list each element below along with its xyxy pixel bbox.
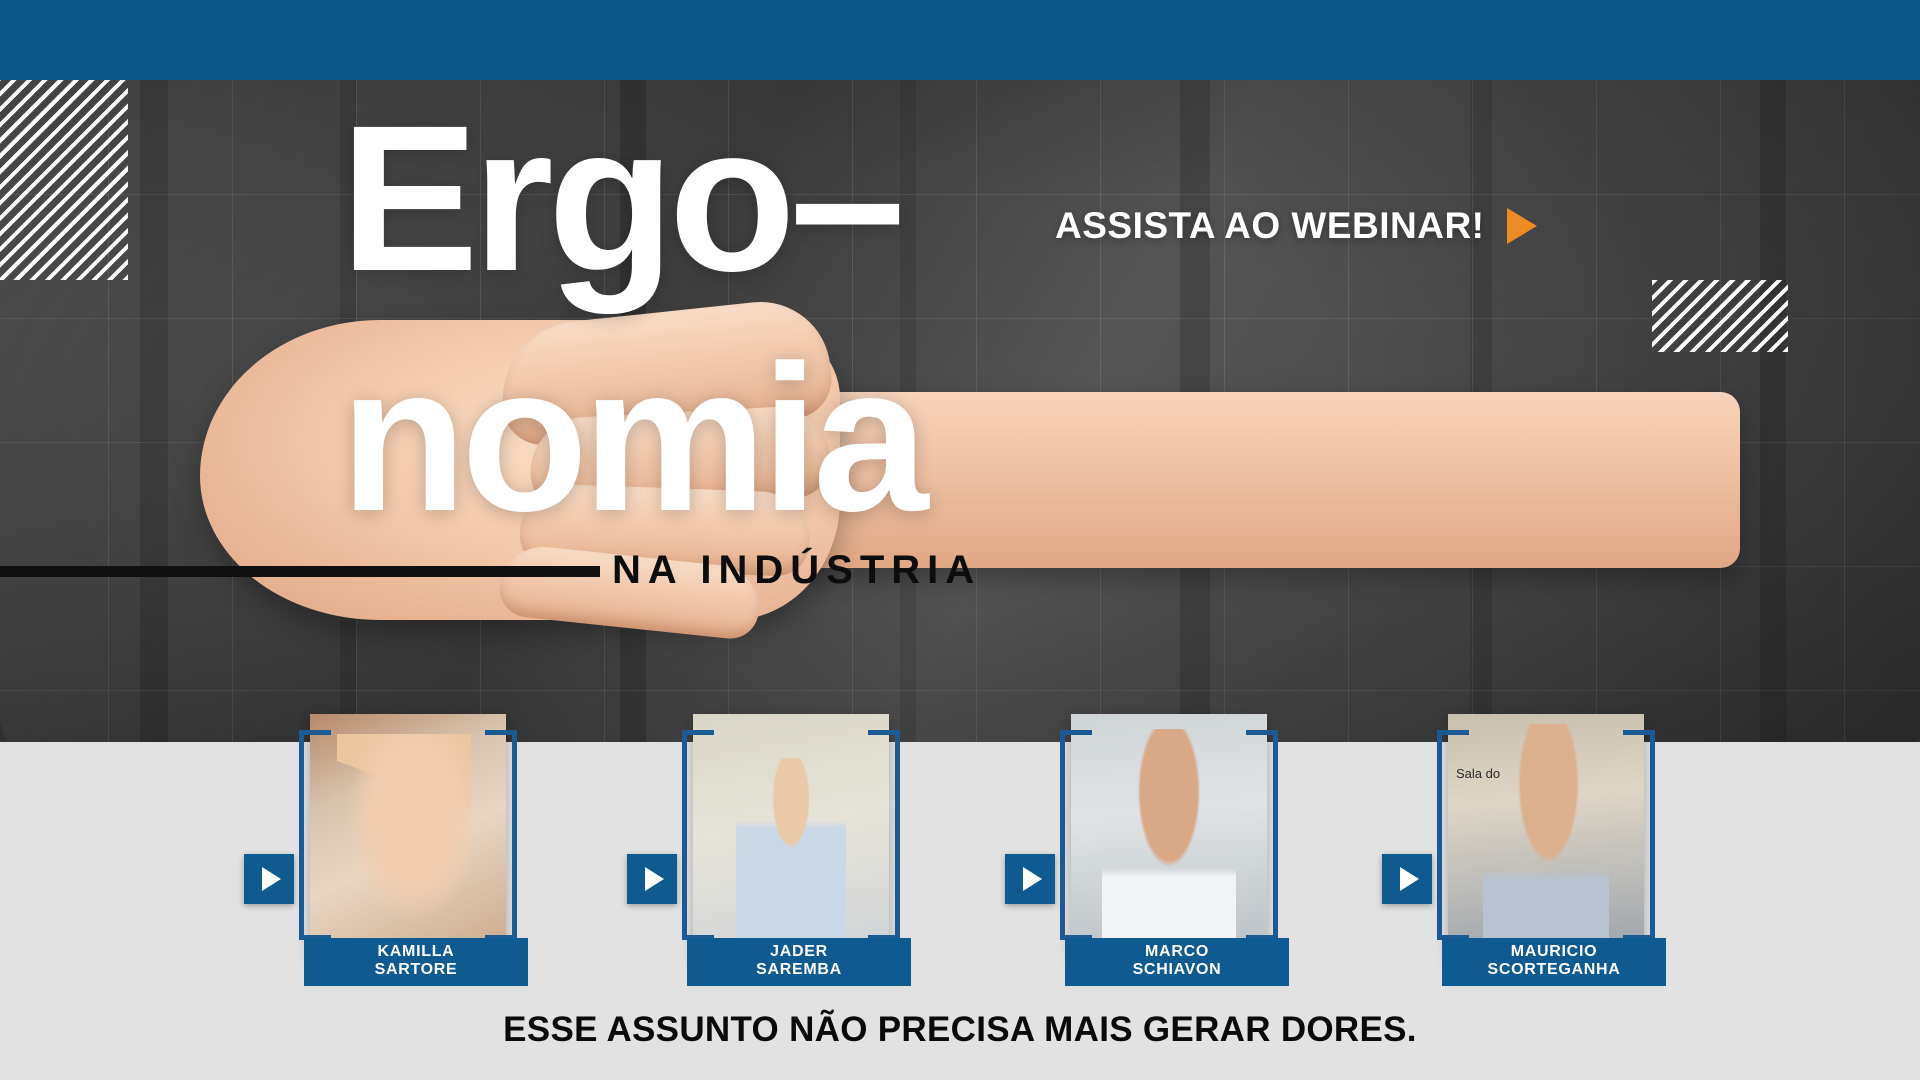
speaker-photo-image xyxy=(1448,714,1644,958)
bracket-left-top xyxy=(1437,730,1469,735)
speaker-photo xyxy=(310,714,506,958)
bracket-right-top xyxy=(485,730,517,735)
bracket-right-top xyxy=(868,730,900,735)
bracket-right xyxy=(1650,730,1655,940)
bracket-right xyxy=(512,730,517,940)
speaker-play-button[interactable] xyxy=(627,854,677,904)
speaker-card[interactable]: Sala do MAURICIO SCORTEGANHA xyxy=(1406,700,1736,1000)
speaker-card[interactable]: JADER SAREMBA xyxy=(651,700,981,1000)
speaker-first-name: JADER xyxy=(770,943,828,961)
cta-label: ASSISTA AO WEBINAR! xyxy=(1055,205,1485,247)
bracket-left xyxy=(1060,730,1065,940)
hero-subtitle: NA INDÚSTRIA xyxy=(612,548,981,593)
speaker-photo-caption: Sala do xyxy=(1456,766,1500,781)
speaker-photo-image xyxy=(1071,714,1267,958)
speaker-card[interactable]: MARCO SCHIAVON xyxy=(1029,700,1359,1000)
speaker-play-button[interactable] xyxy=(1382,854,1432,904)
speaker-nameplate: JADER SAREMBA xyxy=(687,938,911,986)
speaker-card[interactable]: KAMILLA SARTORE xyxy=(268,700,598,1000)
play-triangle-icon xyxy=(1507,208,1537,244)
speaker-play-button[interactable] xyxy=(244,854,294,904)
speaker-last-name: SCHIAVON xyxy=(1133,961,1222,979)
play-icon xyxy=(262,867,281,891)
subtitle-rule xyxy=(0,566,600,577)
hatch-block-top-left xyxy=(0,80,128,280)
speaker-last-name: SAREMBA xyxy=(756,961,842,979)
speaker-last-name: SCORTEGANHA xyxy=(1487,961,1620,979)
speaker-nameplate: MAURICIO SCORTEGANHA xyxy=(1442,938,1666,986)
speaker-photo-image xyxy=(693,714,889,958)
bracket-right-top xyxy=(1246,730,1278,735)
speaker-play-button[interactable] xyxy=(1005,854,1055,904)
play-icon xyxy=(645,867,664,891)
banner-stage: Ergo– nomia ASSISTA AO WEBINAR! NA INDÚS… xyxy=(0,0,1920,1080)
bracket-right xyxy=(1273,730,1278,940)
bracket-left xyxy=(682,730,687,940)
top-blue-bar xyxy=(0,0,1920,80)
play-icon xyxy=(1400,867,1419,891)
bracket-left-top xyxy=(1060,730,1092,735)
footer-tagline: ESSE ASSUNTO NÃO PRECISA MAIS GERAR DORE… xyxy=(0,1010,1920,1050)
speaker-photo-image xyxy=(310,714,506,958)
speaker-last-name: SARTORE xyxy=(375,961,458,979)
watch-webinar-cta[interactable]: ASSISTA AO WEBINAR! xyxy=(1055,205,1537,247)
speaker-nameplate: KAMILLA SARTORE xyxy=(304,938,528,986)
speaker-list: KAMILLA SARTORE JADER SAREMBA xyxy=(0,700,1920,1000)
bracket-left xyxy=(1437,730,1442,940)
bracket-left xyxy=(299,730,304,940)
speaker-first-name: KAMILLA xyxy=(378,943,455,961)
speaker-photo xyxy=(1071,714,1267,958)
speaker-first-name: MARCO xyxy=(1145,943,1209,961)
speaker-first-name: MAURICIO xyxy=(1511,943,1597,961)
bracket-right-top xyxy=(1623,730,1655,735)
speaker-nameplate: MARCO SCHIAVON xyxy=(1065,938,1289,986)
speaker-photo xyxy=(693,714,889,958)
bracket-left-top xyxy=(682,730,714,735)
hand-illustration xyxy=(200,320,1740,660)
play-icon xyxy=(1023,867,1042,891)
speaker-photo: Sala do xyxy=(1448,714,1644,958)
bracket-left-top xyxy=(299,730,331,735)
bracket-right xyxy=(895,730,900,940)
